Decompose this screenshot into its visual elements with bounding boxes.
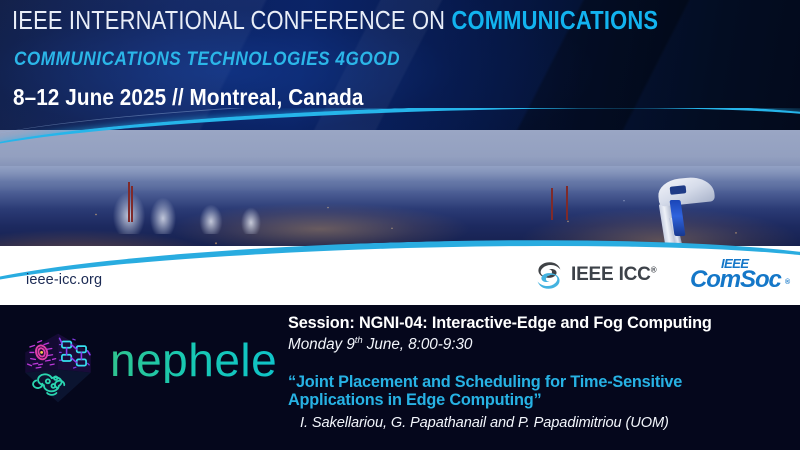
conference-website[interactable]: ieee-icc.org (26, 272, 102, 288)
comsoc-wordmark: ComSoc (690, 266, 781, 294)
paper-title-line-2: Applications in Edge Computing” (288, 391, 541, 409)
session-day: Monday 9 (288, 336, 355, 353)
session-info-bar: nephele Session: NGNI-04: Interactive-Ed… (0, 305, 800, 450)
conference-poster: IEEE INTERNATIONAL CONFERENCE ON COMMUNI… (0, 0, 800, 450)
session-day-ordinal: th (355, 335, 363, 346)
chimney (131, 186, 133, 222)
session-title: Session: NGNI-04: Interactive-Edge and F… (288, 314, 788, 333)
chimney (128, 182, 130, 222)
conference-banner: IEEE INTERNATIONAL CONFERENCE ON COMMUNI… (0, 0, 800, 305)
conference-tagline: COMMUNICATIONS TECHNOLOGIES 4GOOD (14, 48, 400, 71)
smoke-plume (238, 196, 264, 234)
session-time-range: June, 8:00-9:30 (363, 336, 473, 353)
ieee-icc-logo-text: IEEE ICC® (571, 264, 656, 286)
conference-title-accent: COMMUNICATIONS (451, 7, 658, 35)
banner-white-strip (0, 246, 800, 305)
nephele-wordmark: nephele (110, 337, 277, 383)
nephele-hexagon-cube-icon (18, 329, 98, 407)
paper-title: “Joint Placement and Scheduling for Time… (288, 373, 793, 410)
paper-title-line-1: “Joint Placement and Scheduling for Time… (288, 373, 682, 391)
ieee-comsoc-logo: IEEE ComSoc ® (690, 257, 794, 293)
smoke-plume (196, 192, 226, 234)
paper-block: “Joint Placement and Scheduling for Time… (288, 373, 793, 431)
session-datetime: Monday 9th June, 8:00-9:30 (288, 335, 788, 354)
smoke-plume (146, 182, 180, 234)
session-heading-block: Session: NGNI-04: Interactive-Edge and F… (288, 314, 788, 354)
icc-wordmark: IEEE ICC (571, 264, 651, 285)
tower-window (670, 185, 687, 195)
paper-authors: I. Sakellariou, G. Papathanail and P. Pa… (288, 415, 793, 431)
chimney (551, 188, 553, 220)
ieee-icc-logo: IEEE ICC® (534, 258, 656, 292)
icc-registered-mark: ® (651, 266, 657, 275)
conference-title: IEEE INTERNATIONAL CONFERENCE ON COMMUNI… (12, 7, 658, 36)
chimney (566, 186, 568, 220)
nephele-logo: nephele (18, 329, 268, 407)
conference-dates-location: 8–12 June 2025 // Montreal, Canada (13, 84, 364, 111)
comsoc-registered-mark: ® (785, 279, 790, 286)
conference-title-plain: IEEE INTERNATIONAL CONFERENCE ON (12, 7, 451, 35)
icc-swoosh-globe-icon (534, 260, 564, 291)
